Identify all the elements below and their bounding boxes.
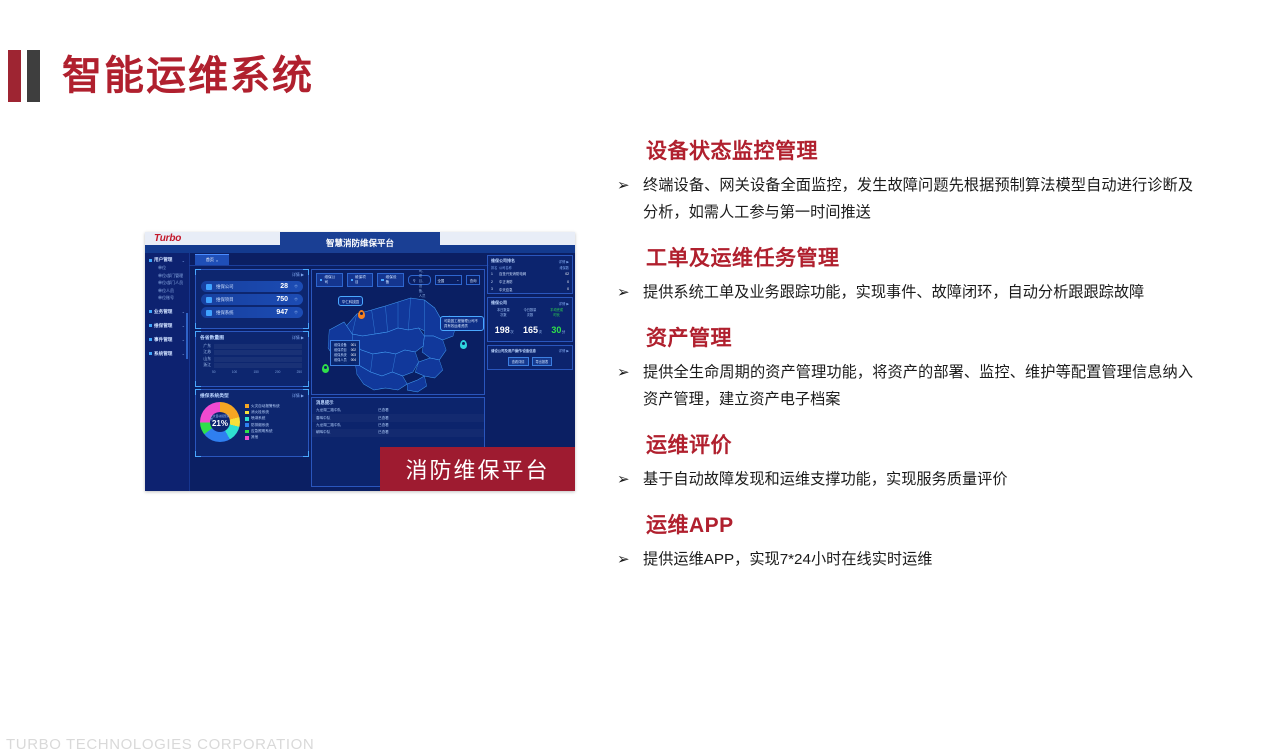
feature-heading: 设备状态监控管理 [646, 135, 1193, 165]
legend-item: 火灾自动报警系统 [245, 404, 280, 409]
map-pin-orange[interactable] [358, 310, 365, 319]
sidebar-item-unit[interactable]: 单位 [158, 265, 185, 271]
legend-label: 防排烟系统 [251, 423, 269, 428]
rank-name: 中天应急 [499, 287, 567, 292]
message-name: 九龙湖二路中队 [316, 408, 378, 413]
rank-row[interactable]: 1 百圣兴安消防电网 02 [488, 270, 572, 278]
page-title-group: 智能运维系统 [0, 50, 314, 102]
arrow-bullet-icon: ➢ [613, 279, 643, 306]
feature-item: ➢ 基于自动故障发现和运维支撑功能，实现服务质量评价 [613, 466, 1193, 493]
kpi-values: 198次 165次 30分 [488, 319, 572, 341]
dashboard-caption-banner: 消防维保平台 [380, 447, 575, 491]
rank-index: 1 [491, 272, 499, 276]
corner-mark [303, 323, 309, 329]
page-title: 智能运维系统 [62, 56, 314, 96]
action-panel-more-link[interactable]: 详情 ▶ [559, 348, 569, 353]
bar-track [214, 363, 302, 368]
stats-panel-head: 详情 ▶ [196, 270, 308, 279]
feature-block-asset: 资产管理 ➢ 提供全生命周期的资产管理功能，将资产的部署、监控、维护等配置管理信… [613, 322, 1193, 413]
chevron-down-icon: ⌄ [182, 337, 185, 342]
stat-row-company[interactable]: 维保公司 28 个 [201, 281, 303, 292]
action-panel-head: 请设公司及用户操作/设备信息 详情 ▶ [488, 346, 572, 354]
bar-track [214, 344, 302, 349]
bullet-square-icon [149, 324, 152, 327]
building-icon [206, 297, 212, 303]
stat-unit: 个 [294, 297, 298, 303]
feature-item: ➢ 提供系统工单及业务跟踪功能，实现事件、故障闭环，自动分析跟跟踪故障 [613, 279, 1193, 306]
sidebar-item-dept-person[interactable]: 单位/部门人员 [158, 280, 185, 286]
kpi-col-header: 今日数量 次数 [524, 308, 537, 318]
rank-name: 中正消防 [499, 279, 567, 284]
rank-col-value: 维保数 [559, 265, 569, 270]
rank-index: 2 [491, 280, 499, 284]
legend-swatch [245, 436, 249, 440]
donut-panel-head: 维保系统类型 详情 ▶ [196, 390, 308, 400]
message-status: 已查看 [378, 408, 389, 413]
legend-label: 火灾自动报警系统 [251, 404, 280, 409]
map-canvas[interactable]: 华仁科技园 可能因工程管理公司不具有效运维资质 维保设备001 维保项目002 … [312, 284, 484, 394]
corner-mark [195, 381, 201, 387]
dashboard-title: 智慧消防维保平台 [326, 237, 394, 249]
kpi-headers: 本日数量 次数 今日数量 次数 平均完成 时长 [488, 307, 572, 319]
map-pin-green[interactable] [322, 364, 329, 373]
rank-panel-more-link[interactable]: 详情 ▶ [559, 259, 569, 264]
message-row[interactable]: 九龙湖二路中队 已查看 [312, 407, 484, 414]
axis-tick: 100 [232, 370, 237, 374]
sidebar-group-user-title[interactable]: 用户管理 ⌄ [149, 257, 185, 263]
message-status: 已查看 [378, 416, 389, 421]
map-pin-cyan[interactable] [460, 340, 467, 349]
bullet-square-icon [149, 259, 152, 262]
rank-name: 百圣兴安消防电网 [499, 271, 565, 276]
rank-col-name: 公司名称 [499, 265, 559, 270]
legend-item: 防排烟系统 [245, 423, 280, 428]
arrow-bullet-icon: ➢ [613, 172, 643, 199]
sidebar-group-system[interactable]: 系统管理 ⌄ [145, 347, 189, 361]
kpi-sublabel: 次数 [497, 313, 510, 318]
user-icon [206, 310, 212, 316]
rank-index: 3 [491, 287, 499, 291]
dashboard-header: Turbo 智慧消防维保平台 [145, 232, 575, 253]
legend-swatch [245, 404, 249, 408]
bullet-square-icon [149, 310, 152, 313]
stat-unit: 个 [294, 284, 298, 290]
legend-swatch [245, 430, 249, 434]
rank-table-header: 排名 公司名称 维保数 [488, 265, 572, 270]
legend-item: 消火栓系统 [245, 410, 280, 415]
message-status: 已查看 [378, 423, 389, 428]
arrow-bullet-icon: ➢ [613, 359, 643, 386]
feature-item: ➢ 提供全生命周期的资产管理功能，将资产的部署、监控、维护等配置管理信息纳入资产… [613, 359, 1193, 413]
sidebar-item-dept[interactable]: 单位/部门管理 [158, 273, 185, 279]
sidebar-group-maintenance[interactable]: 维保管理 ⌄ [145, 319, 189, 333]
legend-swatch [245, 411, 249, 415]
message-name: 九龙湖二路中队 [316, 423, 378, 428]
feature-text: 终端设备、网关设备全面监控，发生故障问题先根据预制算法模型自动进行诊断及分析，如… [643, 172, 1193, 226]
kpi-value: 165 [523, 325, 538, 335]
donut-center-value: 21% [212, 420, 228, 429]
chevron-down-icon: ⌄ [456, 278, 459, 282]
system-type-donut-panel: 维保系统类型 详情 ▶ 火灾自动报警系统 21% 火灾自动报警系统 [195, 389, 309, 457]
stat-value: 750 [276, 296, 288, 303]
stat-row-project[interactable]: 维保项目 750 个 [201, 294, 303, 305]
legend-swatch [245, 423, 249, 427]
feature-heading: 运维评价 [646, 429, 1193, 459]
corner-mark [303, 269, 309, 275]
action-buttons: 查看详情 导出报表 [488, 354, 572, 369]
axis-tick: 200 [275, 370, 280, 374]
message-name: 春晖中队 [316, 416, 378, 421]
donut-center: 火灾自动报警系统 21% [210, 412, 230, 432]
close-icon[interactable]: × [216, 258, 218, 263]
title-accent-bar-red [8, 50, 21, 102]
kpi-value: 198 [495, 325, 510, 335]
corner-mark [303, 381, 309, 387]
legend-label: 消火栓系统 [251, 410, 269, 415]
kpi-panel-more-link[interactable]: 详情 ▶ [559, 301, 569, 306]
corner-mark [303, 389, 309, 395]
sidebar-group-label: 系统管理 [154, 351, 172, 357]
kpi-col-header: 本日数量 次数 [497, 308, 510, 318]
bar-axis-labels: 50 100 150 200 250 [212, 370, 302, 374]
feature-text: 提供全生命周期的资产管理功能，将资产的部署、监控、维护等配置管理信息纳入资产管理… [643, 359, 1193, 413]
feature-text: 基于自动故障发现和运维支撑功能，实现服务质量评价 [643, 466, 1193, 493]
export-report-button[interactable]: 导出报表 [532, 357, 553, 366]
legend-item: 喷淋系统 [245, 416, 280, 421]
donut-wrap: 火灾自动报警系统 21% 火灾自动报警系统 消火栓系统 [196, 400, 308, 444]
bar-track [214, 350, 302, 355]
feature-text: 提供系统工单及业务跟踪功能，实现事件、故障闭环，自动分析跟跟踪故障 [643, 279, 1193, 306]
sidebar-group-label: 事件管理 [154, 337, 172, 343]
axis-tick: 250 [297, 370, 302, 374]
chevron-down-icon: ⌄ [182, 309, 185, 314]
map-region-value: 全国 [438, 278, 445, 283]
sidebar-group-system-title[interactable]: 系统管理 ⌄ [149, 351, 185, 357]
rank-value: 0 [567, 287, 569, 291]
stat-unit: 个 [294, 310, 298, 316]
chevron-down-icon: ⌄ [182, 351, 185, 356]
action-panel-title: 请设公司及用户操作/设备信息 [491, 348, 536, 353]
sidebar-group-event-title[interactable]: 事件管理 ⌄ [149, 337, 185, 343]
kpi-col-header: 平均完成 时长 [550, 308, 563, 318]
stat-label: 维保项目 [216, 297, 272, 303]
kpi-unit: 分 [562, 330, 565, 334]
stats-panel: 详情 ▶ 维保公司 28 个 维保项目 750 个 维保系统 94 [195, 269, 309, 329]
corner-mark [303, 331, 309, 337]
rank-panel-title: 维保公司排名 [491, 258, 515, 264]
message-row[interactable]: 九龙湖二路中队 已查看 [312, 422, 484, 429]
kpi-panel: 维保公司 详情 ▶ 本日数量 次数 今日数量 次数 平均完成 时长 [487, 297, 573, 342]
company-icon [206, 284, 212, 290]
dashboard-tabbar: 首页 × [189, 253, 489, 266]
stat-row-system[interactable]: 维保系统 947 个 [201, 307, 303, 318]
chevron-down-icon: ⌄ [182, 323, 185, 328]
map-info-box: 维保设备001 维保项目002 维保系统003 维保人员004 [330, 340, 360, 366]
kpi-value-group: 30分 [551, 320, 565, 338]
message-status: 已查看 [378, 430, 389, 435]
corner-mark [195, 389, 201, 395]
bar-panel-head: 各省数量图 详情 ▶ [196, 332, 308, 342]
bullet-square-icon [149, 338, 152, 341]
arrow-bullet-icon: ➢ [613, 546, 643, 573]
axis-tick: 50 [212, 370, 216, 374]
feature-text: 提供运维APP，实现7*24小时在线实时运维 [643, 546, 1193, 573]
legend-label: 其他 [251, 435, 258, 440]
rank-row[interactable]: 3 中天应急 0 [488, 286, 572, 294]
donut-chart: 火灾自动报警系统 21% [200, 402, 240, 442]
rank-col-rank: 排名 [491, 265, 499, 270]
legend-item: 其他 [245, 435, 280, 440]
kpi-sublabel: 次数 [524, 313, 537, 318]
province-bar-chart-panel: 各省数量图 详情 ▶ 广东 江苏 山东 浙江 [195, 331, 309, 387]
chevron-down-icon: ⌄ [182, 258, 185, 263]
bar-category: 山东 [200, 357, 211, 362]
bar-category: 浙江 [200, 363, 211, 368]
kpi-sublabel: 时长 [550, 313, 563, 318]
checkbox-icon [351, 279, 353, 282]
map-tooltip-warning[interactable]: 可能因工程管理公司不具有效运维资质 [440, 316, 484, 331]
kpi-unit: 次 [510, 330, 513, 334]
rank-value: 0 [567, 280, 569, 284]
bar-row: 江苏 [200, 350, 302, 355]
rank-value: 02 [565, 272, 569, 276]
sidebar-scrollbar[interactable] [186, 313, 188, 359]
arrow-bullet-icon: ➢ [613, 466, 643, 493]
corner-mark [195, 331, 201, 337]
kpi-panel-head: 维保公司 详情 ▶ [488, 298, 572, 307]
tab-home[interactable]: 首页 × [195, 254, 229, 265]
feature-heading: 工单及运维任务管理 [646, 242, 1193, 272]
bar-row: 浙江 [200, 363, 302, 368]
bar-category: 广东 [200, 344, 211, 349]
footer-brand-text: TURBO TECHNOLOGIES CORPORATION [6, 736, 314, 753]
tab-home-label: 首页 [206, 257, 214, 263]
stat-value: 947 [276, 309, 288, 316]
kpi-value-group: 198次 [495, 320, 514, 338]
bar-panel-title: 各省数量图 [200, 334, 224, 341]
kpi-unit: 次 [539, 330, 542, 334]
sidebar-group-maintenance-title[interactable]: 维保管理 ⌄ [149, 323, 185, 329]
view-detail-button[interactable]: 查看详情 [508, 357, 529, 366]
bar-row: 山东 [200, 357, 302, 362]
checkbox-icon [381, 279, 383, 282]
corner-mark [303, 451, 309, 457]
sidebar-group-label: 业务管理 [154, 309, 172, 315]
message-row[interactable]: 春晖中队 已查看 [312, 414, 484, 421]
feature-block-device-monitoring: 设备状态监控管理 ➢ 终端设备、网关设备全面监控，发生故障问题先根据预制算法模型… [613, 135, 1193, 226]
donut-legend: 火灾自动报警系统 消火栓系统 喷淋系统 防排烟系统 [245, 402, 280, 442]
title-accent-bar-gray [27, 50, 40, 102]
feature-block-workorder: 工单及运维任务管理 ➢ 提供系统工单及业务跟踪功能，实现事件、故障闭环，自动分析… [613, 242, 1193, 306]
sidebar-group-label: 维保管理 [154, 323, 172, 329]
feature-heading: 资产管理 [646, 322, 1193, 352]
sidebar-group-business-title[interactable]: 业务管理 ⌄ [149, 309, 185, 315]
bar-track [214, 357, 302, 362]
sidebar-item-account[interactable]: 单位账号 [158, 295, 185, 301]
message-row[interactable]: 朝晖中队 已查看 [312, 429, 484, 436]
stat-label: 维保系统 [216, 310, 272, 316]
feature-block-app: 运维APP ➢ 提供运维APP，实现7*24小时在线实时运维 [613, 509, 1193, 573]
rank-panel: 维保公司排名 详情 ▶ 排名 公司名称 维保数 1 百圣兴安消防电网 02 2 … [487, 255, 573, 294]
sidebar-group-user[interactable]: 用户管理 ⌄ 单位 单位/部门管理 单位/部门人员 单位人员 单位账号 [145, 253, 189, 305]
sidebar-group-business[interactable]: 业务管理 ⌄ [145, 305, 189, 319]
rank-row[interactable]: 2 中正消防 0 [488, 278, 572, 286]
message-name: 朝晖中队 [316, 430, 378, 435]
bar-row: 广东 [200, 344, 302, 349]
action-panel: 请设公司及用户操作/设备信息 详情 ▶ 查看详情 导出报表 [487, 345, 573, 370]
kpi-value-group: 165次 [523, 320, 542, 338]
stat-label: 维保公司 [216, 284, 276, 290]
sidebar-item-person[interactable]: 单位人员 [158, 288, 185, 294]
china-map-panel[interactable]: 维保公司 维保项目 维保设备 ⚲ 公司、项目、设备、人员 [311, 269, 485, 395]
legend-label: 喷淋系统 [251, 416, 265, 421]
legend-label: 应急照明系统 [251, 429, 273, 434]
sidebar-group-label: 用户管理 [154, 257, 172, 263]
message-panel-title: 消息提示 [312, 398, 484, 407]
search-icon: ⚲ [413, 278, 416, 283]
stat-value: 28 [280, 283, 288, 290]
sidebar-group-event[interactable]: 事件管理 ⌄ [145, 333, 189, 347]
dashboard-title-plate: 智慧消防维保平台 [280, 232, 440, 253]
kpi-value: 30 [551, 325, 561, 335]
kpi-panel-title: 维保公司 [491, 300, 507, 306]
dashboard-sidebar[interactable]: 用户管理 ⌄ 单位 单位/部门管理 单位/部门人员 单位人员 单位账号 业务管理… [145, 253, 190, 491]
rank-panel-head: 维保公司排名 详情 ▶ [488, 256, 572, 265]
corner-mark [195, 451, 201, 457]
feature-list: 设备状态监控管理 ➢ 终端设备、网关设备全面监控，发生故障问题先根据预制算法模型… [613, 135, 1193, 589]
feature-heading: 运维APP [646, 509, 1193, 539]
map-tooltip-park[interactable]: 华仁科技园 [338, 296, 363, 306]
legend-swatch [245, 417, 249, 421]
bar-category: 江苏 [200, 350, 211, 355]
feature-item: ➢ 提供运维APP，实现7*24小时在线实时运维 [613, 546, 1193, 573]
bullet-square-icon [149, 352, 152, 355]
axis-tick: 150 [253, 370, 258, 374]
map-info-row: 维保人员004 [334, 358, 356, 363]
feature-item: ➢ 终端设备、网关设备全面监控，发生故障问题先根据预制算法模型自动进行诊断及分析… [613, 172, 1193, 226]
feature-block-evaluation: 运维评价 ➢ 基于自动故障发现和运维支撑功能，实现服务质量评价 [613, 429, 1193, 493]
legend-item: 应急照明系统 [245, 429, 280, 434]
corner-mark [195, 323, 201, 329]
corner-mark [195, 269, 201, 275]
donut-panel-title: 维保系统类型 [200, 392, 229, 399]
turbo-logo: Turbo [154, 233, 181, 244]
checkbox-icon [320, 279, 322, 282]
